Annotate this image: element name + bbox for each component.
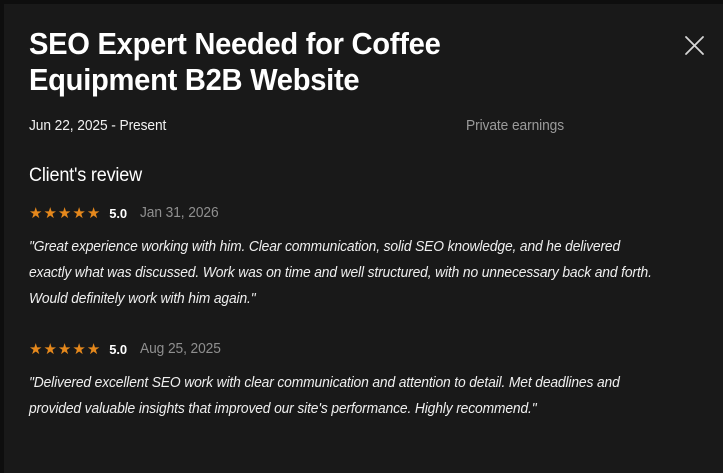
review-text: "Great experience working with him. Clea…	[29, 221, 659, 312]
star-icon: ★	[43, 342, 56, 357]
rating-row: ★★★★★ 5.0 Jan 31, 2026	[29, 205, 723, 221]
rating-row: ★★★★★ 5.0 Aug 25, 2025	[29, 341, 723, 357]
review-item: ★★★★★ 5.0 Aug 25, 2025 "Delivered excell…	[29, 341, 723, 422]
job-detail-modal: SEO Expert Needed for Coffee Equipment B…	[0, 0, 723, 473]
star-rating-icon: ★★★★★	[29, 206, 100, 221]
star-icon: ★	[87, 206, 100, 221]
star-icon: ★	[29, 206, 42, 221]
star-rating-icon: ★★★★★	[29, 342, 100, 357]
star-icon: ★	[43, 206, 56, 221]
engagement-dates: Jun 22, 2025 - Present	[29, 118, 166, 134]
review-text: "Delivered excellent SEO work with clear…	[29, 357, 659, 422]
job-meta-row: Jun 22, 2025 - Present Private earnings	[29, 118, 569, 134]
reviews-heading: Client's review	[29, 134, 688, 187]
close-icon	[684, 35, 705, 56]
review-date: Jan 31, 2026	[140, 205, 219, 221]
star-icon: ★	[72, 206, 85, 221]
star-icon: ★	[87, 342, 100, 357]
review-date: Aug 25, 2025	[140, 341, 221, 357]
rating-value: 5.0	[109, 206, 127, 221]
review-item: ★★★★★ 5.0 Jan 31, 2026 "Great experience…	[29, 205, 723, 312]
star-icon: ★	[72, 342, 85, 357]
page-title: SEO Expert Needed for Coffee Equipment B…	[29, 0, 593, 98]
star-icon: ★	[58, 206, 71, 221]
close-button[interactable]	[679, 30, 709, 60]
star-icon: ★	[29, 342, 42, 357]
modal-content: SEO Expert Needed for Coffee Equipment B…	[29, 0, 723, 422]
star-icon: ★	[58, 342, 71, 357]
rating-value: 5.0	[109, 342, 127, 357]
earnings-label: Private earnings	[466, 118, 564, 134]
